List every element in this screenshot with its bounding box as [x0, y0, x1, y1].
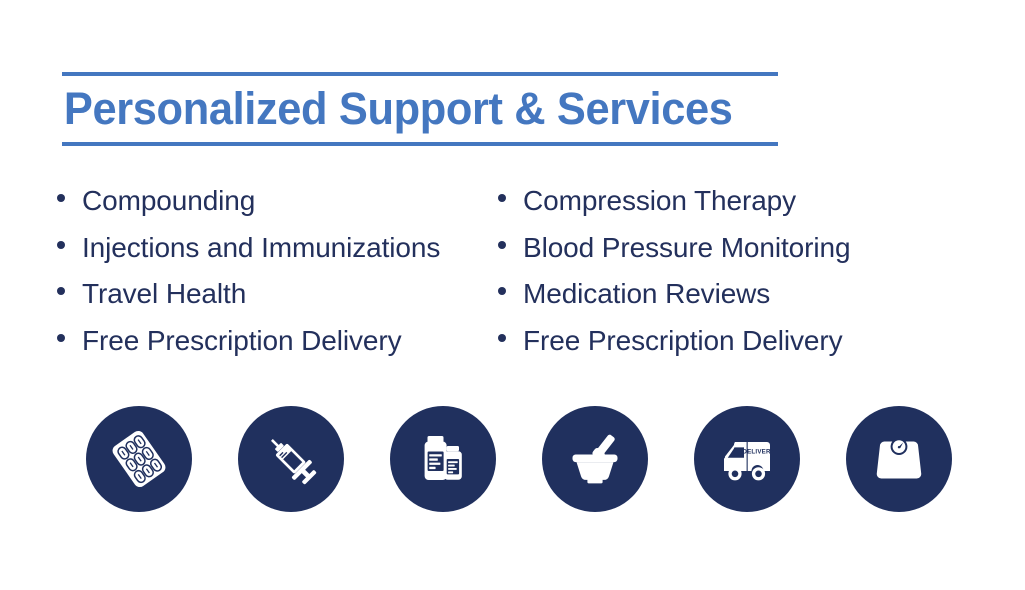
- page-title: Personalized Support & Services: [62, 76, 753, 142]
- icon-badge-medication: [390, 406, 496, 512]
- list-item: Travel Health: [57, 271, 490, 318]
- icon-row: DELIVERY: [0, 406, 1025, 514]
- services-left-column: Compounding Injections and Immunizations…: [0, 178, 490, 364]
- syringe-icon: [260, 428, 322, 490]
- slide-canvas: Personalized Support & Services Compound…: [0, 0, 1025, 590]
- service-label: Compression Therapy: [523, 178, 796, 225]
- list-item: Medication Reviews: [498, 271, 1025, 318]
- service-label: Medication Reviews: [523, 271, 770, 318]
- list-item: Free Prescription Delivery: [57, 318, 490, 365]
- list-item: Compression Therapy: [498, 178, 1025, 225]
- medicine-bottles-icon: [412, 428, 474, 490]
- service-label: Injections and Immunizations: [82, 225, 440, 272]
- service-label: Compounding: [82, 178, 255, 225]
- service-label: Travel Health: [82, 271, 246, 318]
- icon-badge-compression: [542, 406, 648, 512]
- service-label: Free Prescription Delivery: [523, 318, 843, 365]
- list-item: Blood Pressure Monitoring: [498, 225, 1025, 272]
- service-list-left: Compounding Injections and Immunizations…: [57, 178, 490, 364]
- icon-badge-injections: [238, 406, 344, 512]
- bullet-icon: [498, 194, 506, 202]
- bullet-icon: [57, 334, 65, 342]
- blister-pack-icon: [108, 428, 170, 490]
- mortar-and-pestle-icon: [563, 427, 627, 491]
- van-delivery-text: DELIVERY: [742, 448, 775, 455]
- icon-badge-compounding: [86, 406, 192, 512]
- weight-scale-icon: [868, 428, 930, 490]
- list-item: Compounding: [57, 178, 490, 225]
- icon-badge-delivery: DELIVERY: [694, 406, 800, 512]
- bullet-icon: [498, 287, 506, 295]
- icon-badge-blood-pressure: [846, 406, 952, 512]
- bullet-icon: [57, 194, 65, 202]
- bullet-icon: [57, 241, 65, 249]
- list-item: Free Prescription Delivery: [498, 318, 1025, 365]
- title-rule-bottom: [62, 142, 778, 146]
- bullet-icon: [498, 241, 506, 249]
- bullet-icon: [57, 287, 65, 295]
- service-label: Blood Pressure Monitoring: [523, 225, 850, 272]
- services-right-column: Compression Therapy Blood Pressure Monit…: [490, 178, 1025, 364]
- bullet-icon: [498, 334, 506, 342]
- services-lists: Compounding Injections and Immunizations…: [0, 178, 1025, 364]
- list-item: Injections and Immunizations: [57, 225, 490, 272]
- service-list-right: Compression Therapy Blood Pressure Monit…: [498, 178, 1025, 364]
- title-block: Personalized Support & Services: [62, 72, 778, 146]
- service-label: Free Prescription Delivery: [82, 318, 402, 365]
- delivery-van-icon: DELIVERY: [713, 425, 781, 493]
